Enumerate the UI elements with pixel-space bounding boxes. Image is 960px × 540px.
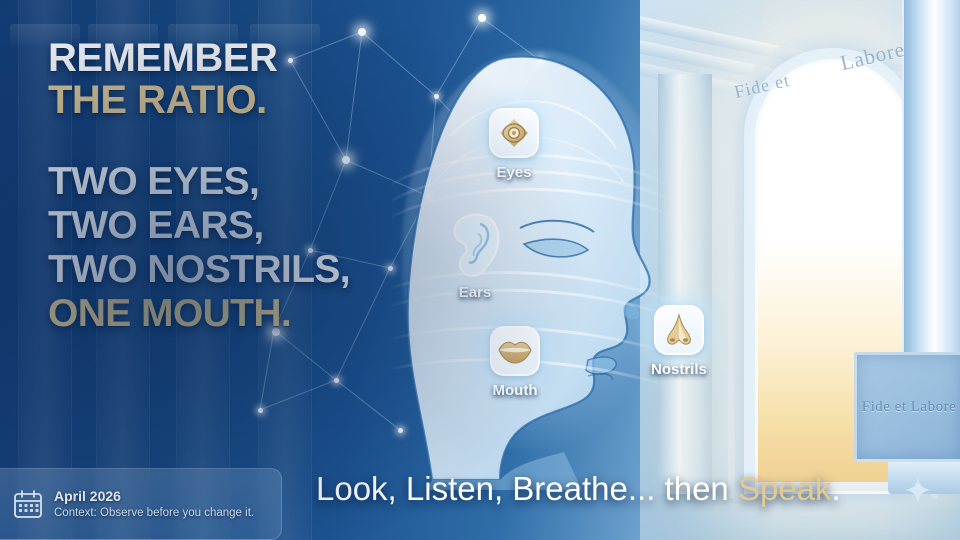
badge-text: April 2026 Context: Observe before you c… [54,488,254,520]
plaque-text: Fide et Labore [862,398,956,417]
tagline-prefix: Look, Listen, Breathe... then [316,470,738,507]
stone-plaque: Fide et Labore [854,352,960,462]
lips-icon [497,338,533,364]
body-line-3: TWO NOSTRILS, [48,248,448,292]
date-context-badge[interactable]: April 2026 Context: Observe before you c… [0,468,282,540]
headline-line-2: THE RATIO. [48,80,408,122]
sparkle-icon [905,477,931,503]
eye-icon [497,116,531,150]
poster-canvas: Fide et Labore Fide et Labore [0,0,960,540]
body-line-4: ONE MOUTH. [48,292,448,336]
badge-title: April 2026 [54,488,254,506]
badge-subtitle: Context: Observe before you change it. [54,506,254,520]
body-line-2: TWO EARS, [48,204,448,248]
tagline: Look, Listen, Breathe... then Speak. [316,470,841,508]
eyes-tile[interactable] [489,108,539,158]
feature-eyes[interactable]: Eyes [489,108,539,181]
tagline-suffix: . [832,470,841,507]
feature-mouth[interactable]: Mouth [490,326,540,399]
feature-ears[interactable]: Ears [448,212,502,301]
eyes-label: Eyes [489,164,539,181]
nostrils-tile[interactable] [654,305,704,355]
calendar-icon [12,488,44,520]
body-line-1: TWO EYES, [48,160,448,204]
ears-label: Ears [448,284,502,301]
tagline-highlight: Speak [738,470,832,507]
mouth-tile[interactable] [490,326,540,376]
feature-nostrils[interactable]: Nostrils [651,305,707,378]
headline-block: REMEMBER THE RATIO. [48,38,408,121]
body-block: TWO EYES, TWO EARS, TWO NOSTRILS, ONE MO… [48,160,448,336]
ear-icon [448,212,502,278]
mouth-label: Mouth [490,382,540,399]
nostrils-label: Nostrils [651,361,707,378]
headline-line-1: REMEMBER [48,38,408,80]
ears-art[interactable] [448,212,502,278]
nose-icon [663,313,695,347]
